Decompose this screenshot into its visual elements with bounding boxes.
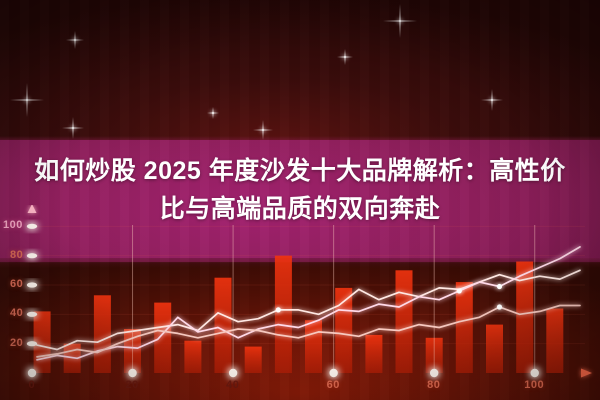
y-axis-tick-dot bbox=[27, 312, 37, 317]
chart-bar bbox=[275, 256, 292, 373]
chart-bar bbox=[184, 341, 201, 373]
x-axis-tick-dot bbox=[329, 369, 337, 377]
banner-image: 20406080100 020406080100 如何炒股 2025 年度沙发十… bbox=[0, 0, 600, 400]
stock-chart: 20406080100 020406080100 bbox=[0, 205, 600, 400]
x-axis-tick-dot bbox=[531, 369, 539, 377]
y-axis-tick-dot bbox=[27, 341, 37, 346]
x-axis-tick-dot bbox=[28, 369, 36, 377]
x-axis-tick-dot bbox=[430, 369, 438, 377]
chart-bar bbox=[486, 325, 503, 373]
y-axis-tick-dot bbox=[27, 253, 37, 258]
chart-canvas bbox=[0, 205, 600, 400]
headline-line-2: 比与高端品质的双向奔赴 bbox=[0, 190, 600, 228]
chart-bar bbox=[215, 278, 232, 373]
headline: 如何炒股 2025 年度沙发十大品牌解析：高性价 比与高端品质的双向奔赴 bbox=[0, 152, 600, 228]
chart-bar bbox=[305, 320, 322, 373]
chart-bar bbox=[94, 295, 111, 373]
chart-marker bbox=[457, 288, 462, 293]
chart-bar bbox=[245, 347, 262, 373]
x-axis-arrow bbox=[581, 369, 592, 378]
chart-bar bbox=[456, 282, 473, 373]
x-axis-tick-dot bbox=[229, 369, 237, 377]
chart-marker bbox=[497, 304, 502, 309]
chart-marker bbox=[497, 284, 502, 289]
background-top-gradient bbox=[0, 0, 600, 145]
chart-bar bbox=[154, 303, 171, 373]
y-axis-tick-dot bbox=[27, 282, 37, 287]
chart-bar bbox=[365, 335, 382, 373]
x-axis-tick-dot bbox=[128, 369, 136, 377]
chart-marker bbox=[276, 307, 281, 312]
chart-bar bbox=[396, 270, 413, 373]
chart-bar bbox=[546, 309, 563, 374]
headline-line-1: 如何炒股 2025 年度沙发十大品牌解析：高性价 bbox=[0, 152, 600, 190]
